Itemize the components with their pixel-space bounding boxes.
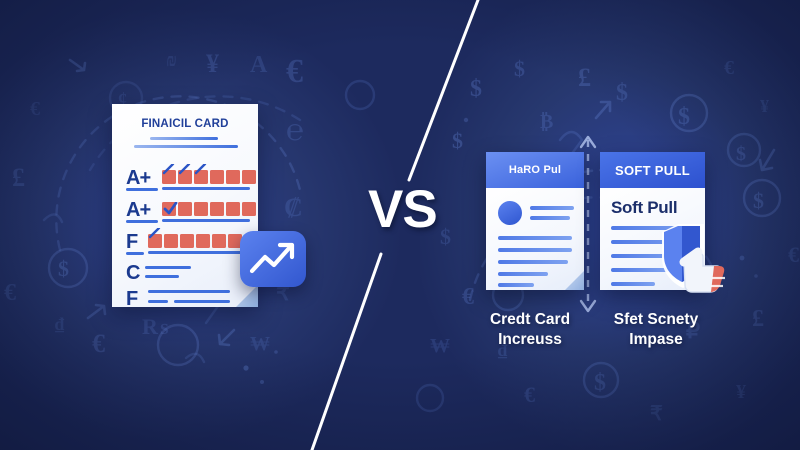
grade-box: [196, 234, 210, 248]
text-line: [498, 236, 572, 240]
grade-box: [212, 234, 226, 248]
hard-pull-card: HaRO Pul: [486, 152, 584, 290]
report-card-title: FINAICIL CARD: [112, 118, 258, 130]
shield-with-pointing-hand-icon: [648, 216, 728, 300]
grade-row: A+: [126, 168, 250, 190]
grade-letter: A+: [126, 168, 150, 188]
grade-letter: A+: [126, 200, 150, 220]
hard-pull-card-header: HaRO Pul: [486, 152, 584, 188]
grade-box: [194, 202, 208, 216]
grade-row: F: [126, 289, 250, 311]
grade-underline: [126, 252, 144, 255]
soft-pull-caption-line-2: Impase: [596, 330, 716, 350]
text-line: [530, 206, 574, 210]
soft-pull-card-header-label: SOFT PULL: [615, 163, 690, 178]
grade-row-rule: [145, 275, 179, 278]
hard-pull-caption-line-1: Credt Card: [470, 310, 590, 330]
grade-row: C: [126, 263, 250, 285]
trending-up-arrow-icon: [240, 231, 306, 287]
grade-box: [226, 170, 240, 184]
text-line: [498, 248, 572, 252]
grade-box: [242, 170, 256, 184]
check-mark-icon: [148, 228, 168, 244]
report-card-rule: [150, 137, 218, 140]
poster-canvas: $ € £ € € ¢ ¥ A € ℮ ₡ ₹ ₨ ₺ ₩ ₫ ₪ $ $ $ …: [0, 0, 800, 450]
report-card-rule: [134, 145, 238, 148]
grade-row-rule: [162, 187, 250, 190]
grade-box: [226, 202, 240, 216]
text-line: [530, 216, 570, 220]
grade-letter: C: [126, 263, 139, 283]
trending-up-badge[interactable]: [240, 231, 306, 287]
hard-pull-card-body: [486, 188, 584, 290]
check-marks-icon: [162, 164, 222, 180]
grade-underline: [126, 220, 158, 223]
grade-row-rule: [148, 290, 230, 293]
avatar: [498, 201, 522, 225]
grade-row-rule: [145, 266, 191, 269]
text-line: [498, 260, 568, 264]
hard-pull-card-header-label: HaRO Pul: [509, 164, 561, 176]
grade-underline: [126, 188, 158, 191]
grade-row: F: [126, 232, 250, 254]
soft-pull-caption: Sfet Scnety Impase: [596, 310, 716, 350]
grade-letter: F: [126, 289, 137, 309]
soft-pull-card-header: SOFT PULL: [600, 152, 705, 188]
grade-row-rule: [162, 219, 250, 222]
check-mark-icon: [163, 202, 183, 218]
grade-row-rule: [148, 251, 250, 254]
hard-pull-caption: Credt Card Increuss: [470, 310, 590, 350]
text-line: [498, 283, 534, 287]
hard-pull-caption-line-2: Increuss: [470, 330, 590, 350]
grade-box: [210, 202, 224, 216]
text-line: [498, 272, 548, 276]
soft-pull-caption-line-1: Sfet Scnety: [596, 310, 716, 330]
vs-label: VS: [368, 183, 437, 236]
financial-report-card: FINAICIL CARD A+ A+: [112, 104, 258, 307]
grade-row-rule: [174, 300, 230, 303]
grade-box: [242, 202, 256, 216]
grade-letter: F: [126, 232, 137, 252]
grade-row-rule: [148, 300, 168, 303]
grade-box: [180, 234, 194, 248]
soft-pull-body-title: Soft Pull: [611, 198, 677, 218]
page-fold-corner-icon: [565, 271, 584, 290]
grade-row: A+: [126, 200, 250, 222]
